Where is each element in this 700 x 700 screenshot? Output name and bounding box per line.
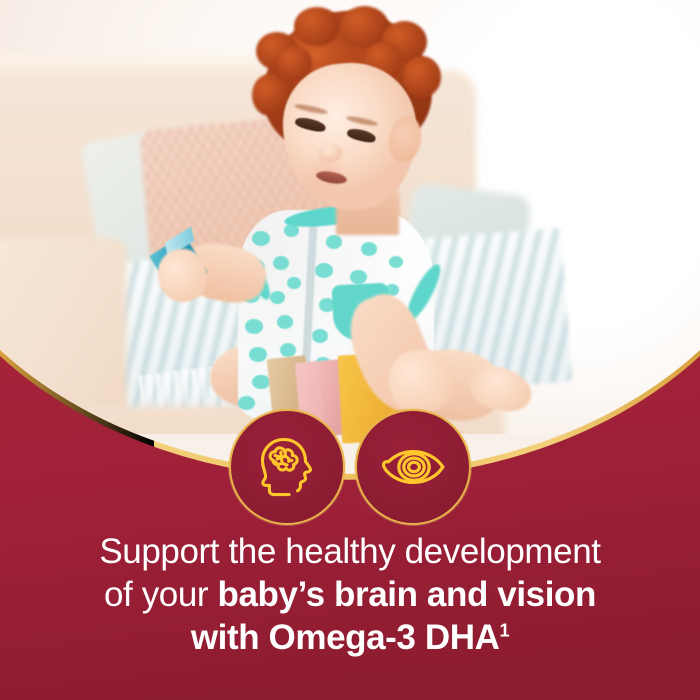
headline-line-3: with Omega-3 DHA1 [22,616,678,659]
headline-line-2-bold: baby’s brain and vision [218,575,596,614]
footnote-marker: 1 [499,620,509,640]
brain-head-icon [248,428,326,506]
badge-vision[interactable] [355,409,471,525]
headline-line-2-lite: of your [104,575,218,614]
product-benefit-poster: Support the healthy development of your … [0,0,700,700]
headline: Support the healthy development of your … [0,530,700,659]
headline-line-3-bold: with Omega-3 DHA [191,618,500,657]
badge-brain[interactable] [229,409,345,525]
headline-line-2: of your baby’s brain and vision [22,573,678,616]
eye-icon [373,427,453,507]
baby-nose [318,144,342,162]
headline-line-1-text: Support the healthy development [99,532,600,571]
headline-line-1: Support the healthy development [22,530,678,573]
benefit-badges [0,409,700,525]
